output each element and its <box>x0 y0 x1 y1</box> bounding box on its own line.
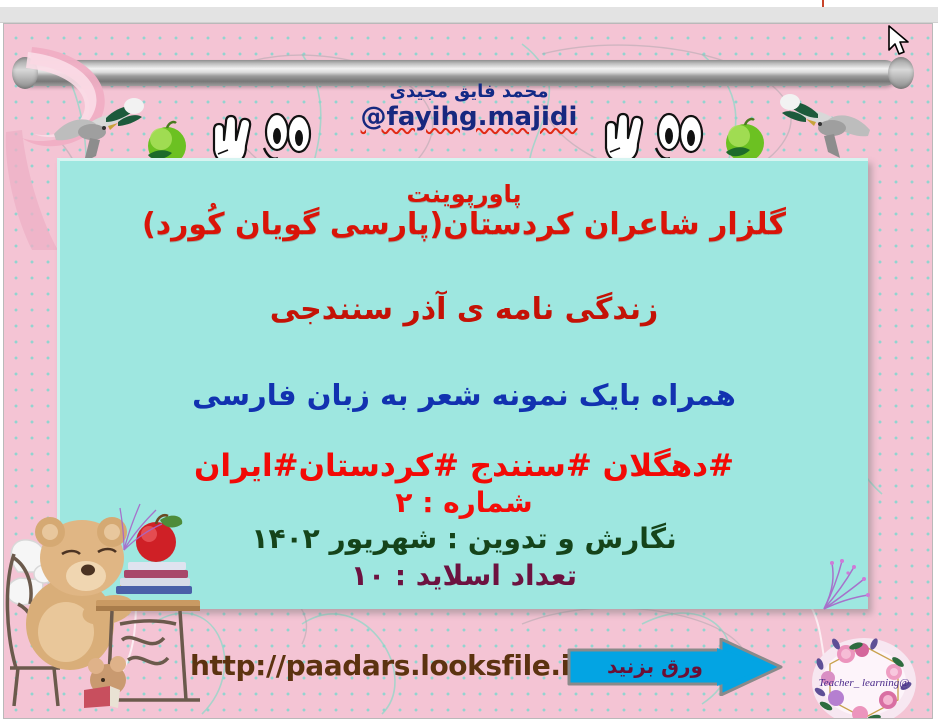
metal-rod-icon <box>18 60 898 86</box>
slide-line-hashtags: #دهگلان #سنندج #کردستان#ایران <box>60 449 868 484</box>
ruler-strip <box>0 0 938 7</box>
slide-line-authoring: نگارش و تدوین : شهریور ۱۴۰۲ <box>60 523 868 554</box>
slide-line-kind: پاورپوینت <box>60 181 868 208</box>
ruler-tick-marker <box>822 0 824 7</box>
slide-line-subject: زندگی نامه ی آذر سنندجی <box>60 293 868 327</box>
slide-line-title: گلزار شاعران کردستان(پارسی گویان کُورد) <box>60 208 868 242</box>
metal-rod-cap-right-icon <box>888 57 914 89</box>
right-arrow-icon[interactable] <box>567 638 783 696</box>
content-card: پاورپوینت گلزار شاعران کردستان(پارسی گوی… <box>57 158 868 609</box>
slide-canvas[interactable]: محمد فایق مجیدی @fayihg.majidi پاورپوینت… <box>3 23 933 719</box>
slide-line-number: شماره : ۲ <box>60 487 868 518</box>
slide-line-slide-count: تعداد اسلاید : ۱۰ <box>60 560 868 591</box>
slide-line-note: همراه بایک نمونه شعر به زبان فارسی <box>60 379 868 411</box>
powerpoint-slide-window: محمد فایق مجیدی @fayihg.majidi پاورپوینت… <box>0 0 938 721</box>
window-chrome-band <box>0 7 938 23</box>
website-url[interactable]: http://paadars.looksfile.ir <box>190 649 583 682</box>
next-slide-button[interactable]: ورق بزنید <box>567 638 783 696</box>
metal-rod-cap-left-icon <box>12 57 38 89</box>
